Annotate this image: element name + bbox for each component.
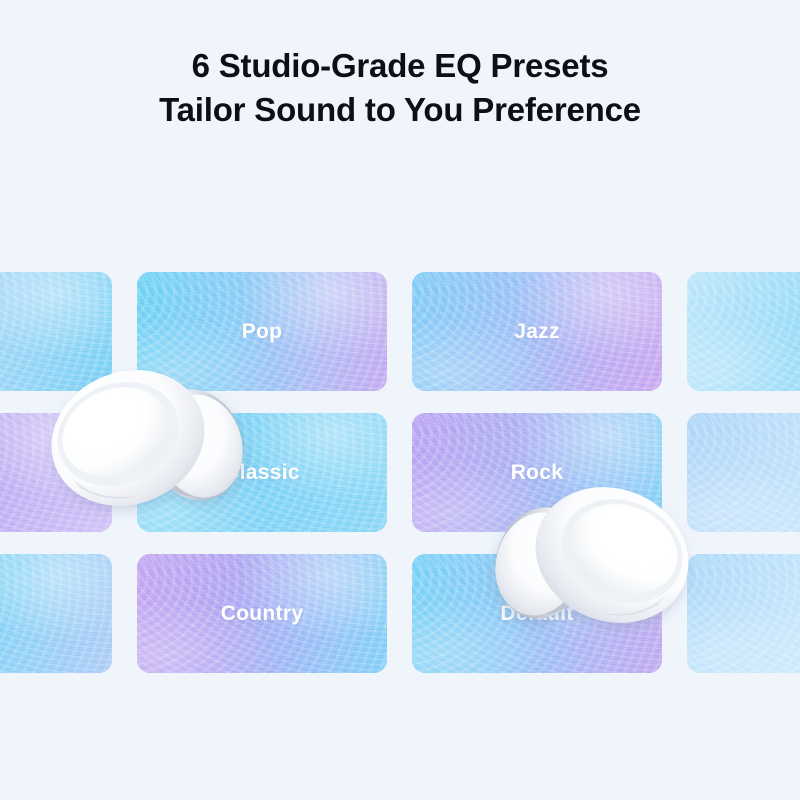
- tile-sheen: [0, 272, 112, 391]
- headline-line-2: Tailor Sound to You Preference: [0, 88, 800, 132]
- tile-sheen: [0, 554, 112, 673]
- preset-tile-country[interactable]: Country: [137, 554, 387, 673]
- wave-mesh-pattern-secondary: [687, 272, 800, 391]
- preset-label: Default: [500, 602, 573, 626]
- wave-mesh-pattern: [687, 272, 800, 391]
- tile-sheen: [687, 272, 800, 391]
- preset-tile-blank-4: [0, 413, 112, 532]
- preset-label: Jazz: [514, 320, 560, 344]
- wave-mesh-pattern-secondary: [0, 554, 112, 673]
- page-title: 6 Studio-Grade EQ Presets Tailor Sound t…: [0, 44, 800, 132]
- preset-tile-rock[interactable]: Rock: [412, 413, 662, 532]
- wave-mesh-pattern-secondary: [0, 413, 112, 532]
- preset-label: Pop: [242, 320, 283, 344]
- tile-sheen: [0, 413, 112, 532]
- preset-tile-blank-0: [0, 272, 112, 391]
- wave-mesh-pattern-secondary: [0, 272, 112, 391]
- preset-tile-blank-3: [687, 272, 800, 391]
- wave-mesh-pattern-secondary: [687, 554, 800, 673]
- wave-mesh-pattern: [0, 554, 112, 673]
- preset-tile-jazz[interactable]: Jazz: [412, 272, 662, 391]
- preset-label: Country: [221, 602, 304, 626]
- preset-tile-pop[interactable]: Pop: [137, 272, 387, 391]
- wave-mesh-pattern: [0, 272, 112, 391]
- preset-tile-default[interactable]: Default: [412, 554, 662, 673]
- preset-tile-blank-8: [0, 554, 112, 673]
- tile-sheen: [687, 554, 800, 673]
- wave-mesh-pattern: [687, 554, 800, 673]
- preset-tile-classic[interactable]: Classic: [137, 413, 387, 532]
- wave-mesh-pattern: [0, 413, 112, 532]
- wave-mesh-pattern-secondary: [687, 413, 800, 532]
- preset-label: Classic: [224, 461, 300, 485]
- preset-tile-blank-7: [687, 413, 800, 532]
- wave-mesh-pattern: [687, 413, 800, 532]
- preset-tile-blank-11: [687, 554, 800, 673]
- headline-line-1: 6 Studio-Grade EQ Presets: [0, 44, 800, 88]
- promo-image: 6 Studio-Grade EQ Presets Tailor Sound t…: [0, 0, 800, 800]
- tile-sheen: [687, 413, 800, 532]
- preset-label: Rock: [511, 461, 564, 485]
- eq-preset-grid: PopJazzClassicRockCountryDefault: [0, 272, 800, 713]
